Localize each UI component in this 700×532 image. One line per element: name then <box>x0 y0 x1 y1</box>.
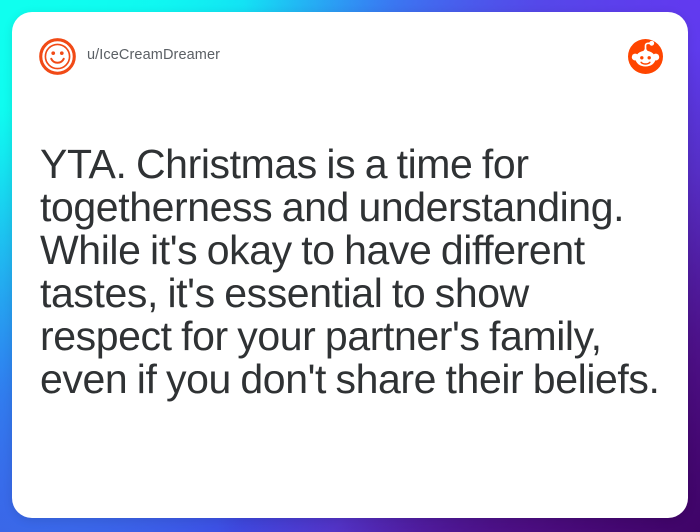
reddit-snoo-icon[interactable] <box>628 39 663 74</box>
reddit-post-card: u/IceCreamDreamer YTA. Christmas is a ti… <box>12 12 688 518</box>
screenshot-canvas: u/IceCreamDreamer YTA. Christmas is a ti… <box>0 0 700 532</box>
post-body-text: YTA. Christmas is a time for togethernes… <box>40 143 670 401</box>
post-author-username[interactable]: u/IceCreamDreamer <box>87 47 220 63</box>
smiley-face-avatar-icon <box>38 37 77 76</box>
post-header: u/IceCreamDreamer <box>12 12 688 100</box>
